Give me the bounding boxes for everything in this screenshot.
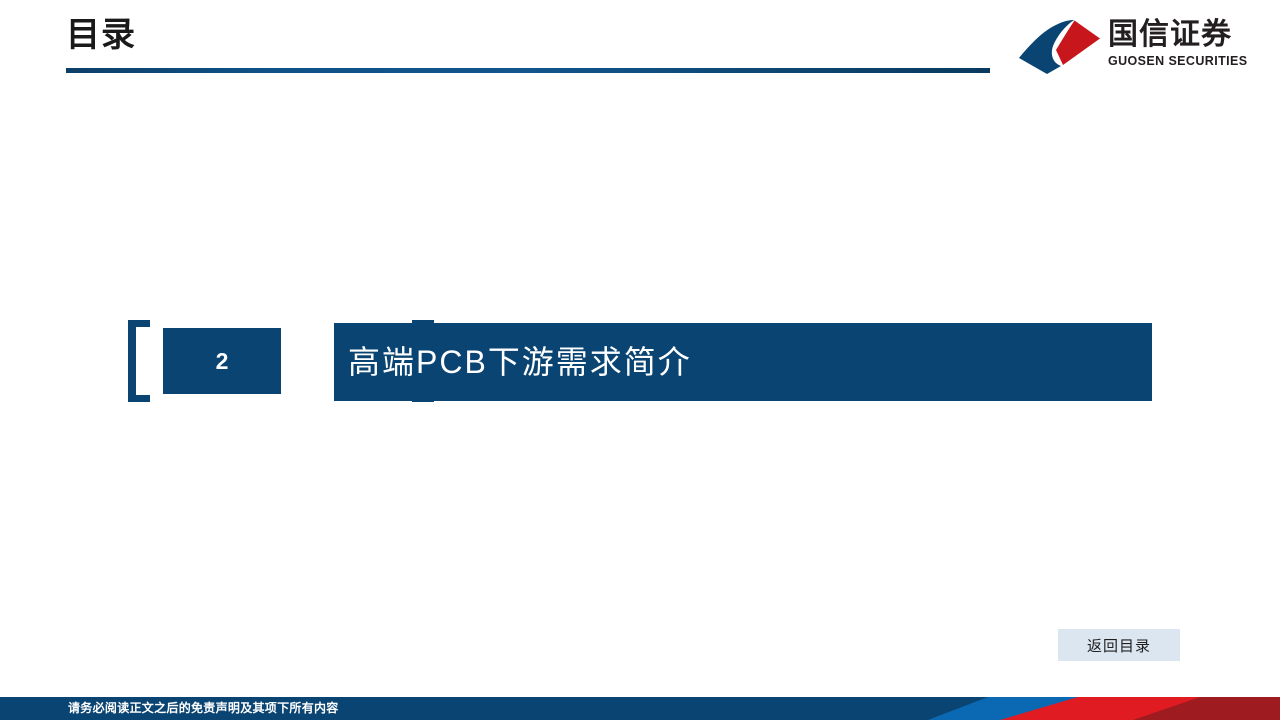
footer-bar: 请务必阅读正文之后的免责声明及其项下所有内容 — [0, 697, 1280, 720]
logo-name-cn: 国信证券 — [1108, 16, 1226, 54]
title-underline-rule — [66, 68, 990, 73]
logo-name-en: GUOSEN SECURITIES — [1108, 54, 1226, 68]
brand-logo: 国信证券 GUOSEN SECURITIES — [1016, 16, 1226, 78]
page-title: 目录 — [66, 18, 136, 52]
slide-canvas: 目录 国信证券 GUOSEN SECURITIES 2 高端PCB下游需求简介 — [0, 0, 1280, 720]
section-number-badge: 2 — [163, 328, 281, 394]
section-title-label: 高端PCB下游需求简介 — [334, 346, 692, 378]
logo-wordmark: 国信证券 GUOSEN SECURITIES — [1108, 16, 1226, 76]
footer-disclaimer: 请务必阅读正文之后的免责声明及其项下所有内容 — [68, 697, 339, 720]
section-title-bar: 高端PCB下游需求简介 — [334, 323, 1152, 401]
left-bracket-icon — [128, 320, 150, 402]
return-to-contents-button[interactable]: 返回目录 — [1058, 629, 1180, 661]
footer-decoration-stripes — [928, 697, 1280, 720]
left-bracket-stem — [128, 320, 136, 402]
left-bracket-arm-top — [128, 320, 150, 327]
left-bracket-arm-bottom — [128, 395, 150, 402]
guosen-logo-mark — [1016, 18, 1102, 76]
